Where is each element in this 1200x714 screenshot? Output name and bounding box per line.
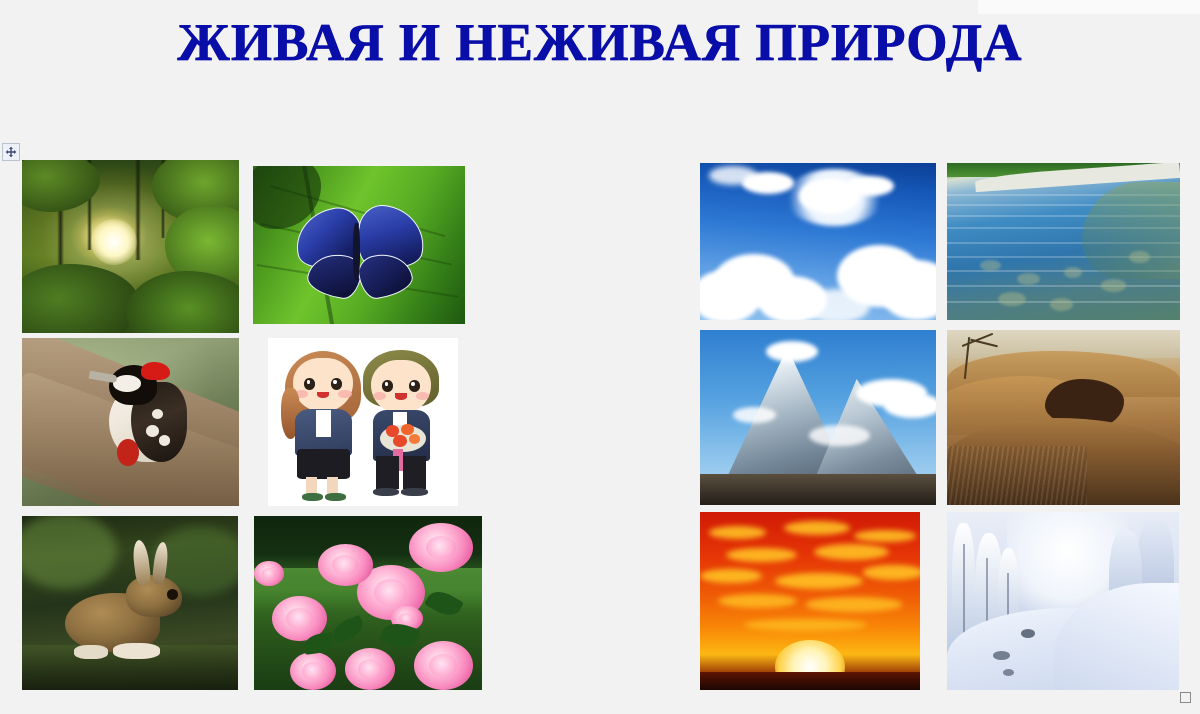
photo-river[interactable] <box>947 163 1180 320</box>
photo-hare[interactable] <box>22 516 238 690</box>
photo-children[interactable] <box>268 338 458 506</box>
photo-clouds[interactable] <box>700 163 936 320</box>
photo-snow[interactable] <box>947 512 1179 690</box>
photo-forest[interactable] <box>22 160 239 333</box>
photo-butterfly[interactable] <box>253 166 465 324</box>
resize-handle-icon[interactable] <box>1180 692 1191 703</box>
page-title: ЖИВАЯ И НЕЖИВАЯ ПРИРОДА <box>0 8 1200 78</box>
presentation-slide: ЖИВАЯ И НЕЖИВАЯ ПРИРОДА <box>0 0 1200 714</box>
page-title-text: ЖИВАЯ И НЕЖИВАЯ ПРИРОДА <box>177 17 1022 70</box>
photo-roses[interactable] <box>254 516 482 690</box>
photo-desert[interactable] <box>947 330 1180 505</box>
photo-woodpecker[interactable] <box>22 338 239 506</box>
move-four-arrows-icon[interactable] <box>2 143 20 161</box>
photo-sunset[interactable] <box>700 512 920 690</box>
photo-mountain[interactable] <box>700 330 936 505</box>
